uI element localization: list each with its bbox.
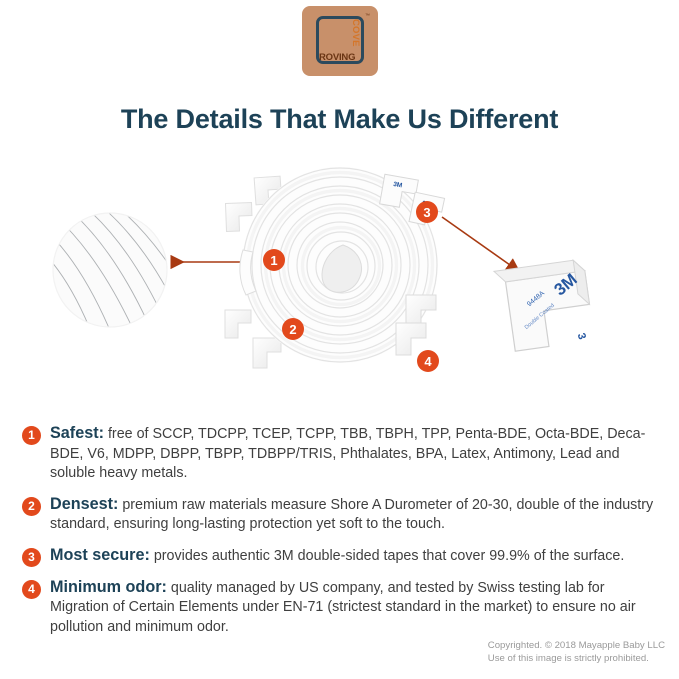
- corner-guard-detail: 3M 9448A Double Coated 3: [494, 259, 595, 353]
- hero-badge-2: 2: [282, 318, 304, 340]
- copyright-line-1: Copyrighted. © 2018 Mayapple Baby LLC: [488, 640, 665, 653]
- logo-word-roving: ROVING: [319, 52, 355, 63]
- feature-badge-2: 2: [22, 497, 41, 516]
- feature-head-3: Most secure:: [50, 546, 150, 564]
- product-hero-image: 3M 3M 3M 9448A Double Coated 3 1 2 3 4: [0, 155, 679, 395]
- svg-text:1: 1: [270, 253, 277, 268]
- hero-badge-3: 3: [416, 201, 438, 223]
- logo-word-cove: COVE: [350, 19, 361, 47]
- page-title: The Details That Make Us Different: [0, 104, 679, 135]
- feature-item-densest: 2 Densest: premium raw materials measure…: [22, 495, 662, 535]
- svg-text:4: 4: [424, 354, 432, 369]
- feature-badge-3: 3: [22, 548, 41, 567]
- feature-body-2: premium raw materials measure Shore A Du…: [50, 497, 653, 533]
- hero-badge-1: 1: [263, 249, 285, 271]
- logo-tile: ROVING COVE ™: [302, 6, 378, 76]
- feature-head-4: Minimum odor:: [50, 578, 167, 596]
- feature-item-safest: 1 Safest: free of SCCP, TDCPP, TCEP, TCP…: [22, 424, 662, 484]
- brand-logo: ROVING COVE ™: [302, 6, 378, 76]
- feature-item-most-secure: 3 Most secure: provides authentic 3M dou…: [22, 546, 662, 567]
- feature-text-3: Most secure: provides authentic 3M doubl…: [50, 546, 662, 567]
- feature-badge-1: 1: [22, 426, 41, 445]
- tape-brand-label-side: 3: [575, 332, 588, 342]
- feature-head-1: Safest:: [50, 424, 104, 442]
- feature-body-3: provides authentic 3M double-sided tapes…: [150, 548, 624, 564]
- feature-badge-4: 4: [22, 580, 41, 599]
- hero-badge-4: 4: [417, 350, 439, 372]
- foam-texture-magnifier: [38, 193, 212, 341]
- feature-list: 1 Safest: free of SCCP, TDCPP, TCEP, TCP…: [22, 424, 662, 648]
- arrow-to-corner-guard-detail: [442, 217, 510, 265]
- copyright-line-2: Use of this image is strictly prohibited…: [488, 653, 665, 666]
- logo-trademark-icon: ™: [365, 13, 370, 19]
- svg-text:3: 3: [423, 205, 430, 220]
- feature-text-2: Densest: premium raw materials measure S…: [50, 495, 662, 535]
- feature-head-2: Densest:: [50, 495, 118, 513]
- hero-illustration: 3M 3M 3M 9448A Double Coated 3 1 2 3 4: [0, 155, 679, 395]
- feature-text-1: Safest: free of SCCP, TDCPP, TCEP, TCPP,…: [50, 424, 662, 484]
- feature-text-4: Minimum odor: quality managed by US comp…: [50, 578, 662, 638]
- svg-text:2: 2: [289, 322, 296, 337]
- feature-body-1: free of SCCP, TDCPP, TCEP, TCPP, TBB, TB…: [50, 426, 645, 481]
- copyright-notice: Copyrighted. © 2018 Mayapple Baby LLC Us…: [488, 640, 665, 665]
- feature-item-minimum-odor: 4 Minimum odor: quality managed by US co…: [22, 578, 662, 638]
